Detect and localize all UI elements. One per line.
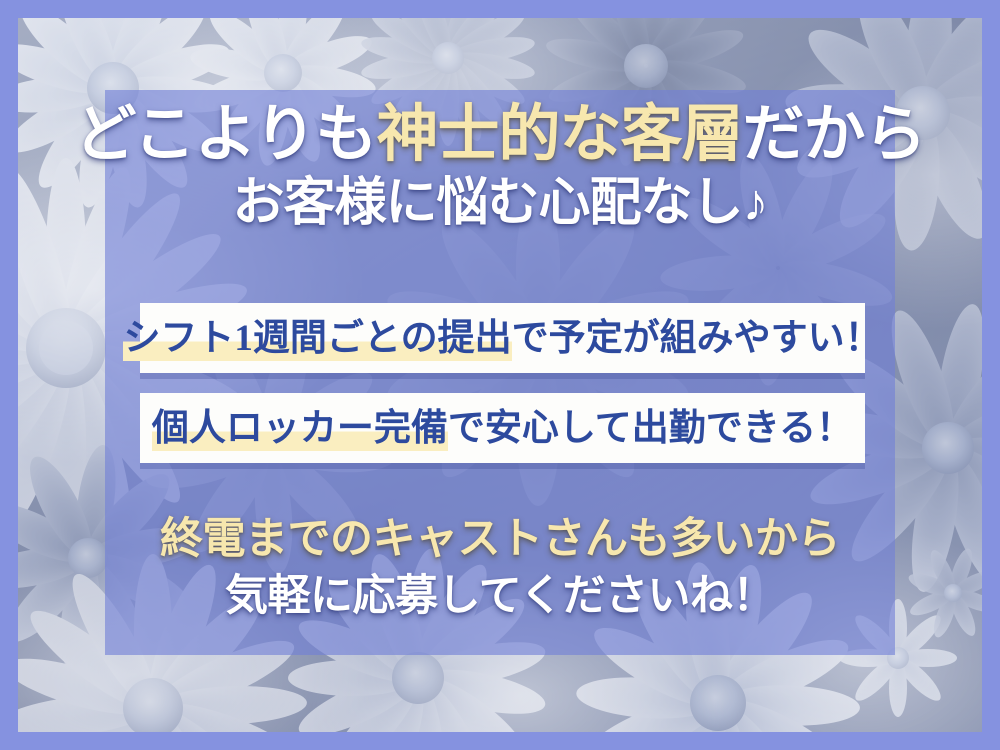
feature-box-1: シフト1週間ごとの提出で予定が組みやすい！ [140, 303, 865, 373]
feature-highlight-1: シフト1週間ごとの提出 [123, 318, 511, 361]
headline-suffix: だから [742, 101, 925, 169]
headline-prefix: どこよりも [75, 101, 377, 169]
feature-text-2: 個人ロッカー完備で安心して出勤できる！ [152, 410, 853, 447]
footer-message: 終電までのキャストさんも多いから 気軽に応募してくださいね！ [0, 518, 1000, 618]
feature-box-2: 個人ロッカー完備で安心して出勤できる！ [140, 393, 865, 463]
footer-line-1: 終電までのキャストさんも多いから [0, 518, 1000, 561]
headline: どこよりも神士的な客層だから お客様に悩む心配なし♪ [0, 104, 1000, 230]
headline-line-2: お客様に悩む心配なし♪ [0, 178, 1000, 230]
banner-content: どこよりも神士的な客層だから お客様に悩む心配なし♪ シフト1週間ごとの提出で予… [0, 0, 1000, 750]
feature-rest-1: で予定が組みやすい！ [512, 318, 882, 359]
recruit-banner: どこよりも神士的な客層だから お客様に悩む心配なし♪ シフト1週間ごとの提出で予… [0, 0, 1000, 750]
headline-line-1: どこよりも神士的な客層だから [0, 104, 1000, 166]
feature-highlight-2: 個人ロッカー完備 [152, 408, 448, 451]
feature-rest-2: で安心して出勤できる！ [448, 408, 853, 449]
footer-line-2: 気軽に応募してくださいね！ [0, 575, 1000, 618]
headline-accent: 神士的な客層 [376, 101, 742, 169]
feature-text-1: シフト1週間ごとの提出で予定が組みやすい！ [123, 320, 881, 357]
